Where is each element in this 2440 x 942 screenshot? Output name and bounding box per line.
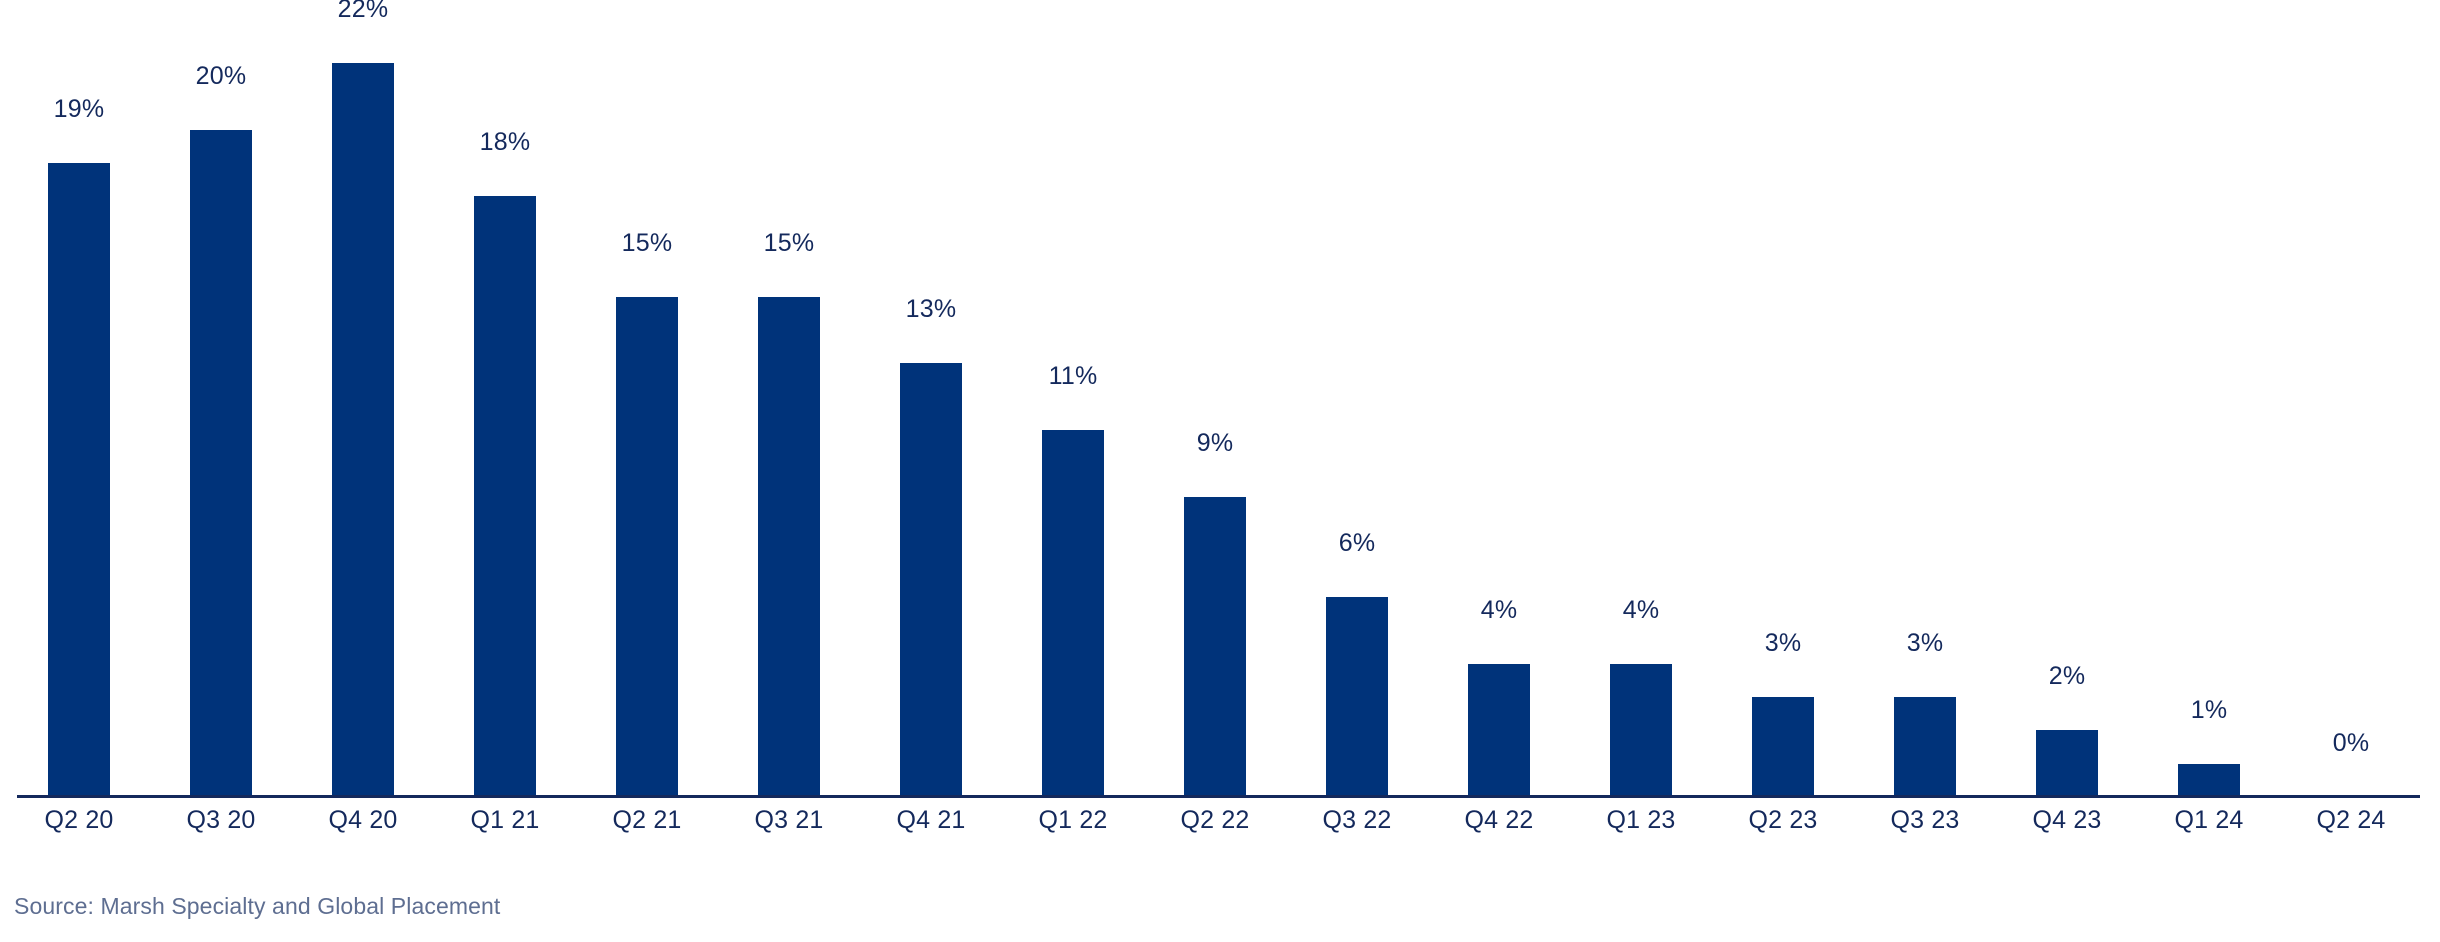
bar[interactable] [900, 363, 962, 797]
x-axis-tick-label: Q1 24 [2138, 806, 2280, 835]
bar[interactable] [2036, 730, 2098, 797]
x-axis-tick-label: Q2 20 [8, 806, 150, 835]
x-axis-tick-label: Q4 23 [1996, 806, 2138, 835]
bar-group[interactable]: 3% [1854, 0, 1996, 798]
bar-group[interactable]: 15% [718, 0, 860, 798]
bar[interactable] [758, 297, 820, 797]
bar-group[interactable]: 4% [1570, 0, 1712, 798]
bar-value-label: 4% [1428, 596, 1570, 625]
bar-value-label: 22% [292, 0, 434, 24]
bar[interactable] [1752, 697, 1814, 797]
bar[interactable] [1184, 497, 1246, 797]
x-axis-tick-label: Q3 21 [718, 806, 860, 835]
x-axis-tick-label: Q2 22 [1144, 806, 1286, 835]
x-axis-tick-label: Q3 20 [150, 806, 292, 835]
x-axis-tick-label: Q2 21 [576, 806, 718, 835]
bar[interactable] [2178, 764, 2240, 797]
bar-value-label: 20% [150, 62, 292, 91]
bar-group[interactable]: 15% [576, 0, 718, 798]
bar-value-label: 11% [1002, 362, 1144, 391]
bar-value-label: 3% [1854, 629, 1996, 658]
bar[interactable] [332, 63, 394, 797]
bar-group[interactable]: 20% [150, 0, 292, 798]
x-axis-line [17, 795, 2420, 798]
bar-value-label: 6% [1286, 529, 1428, 558]
bar-group[interactable]: 6% [1286, 0, 1428, 798]
bar-group[interactable]: 0% [2280, 0, 2422, 798]
bar-group[interactable]: 22% [292, 0, 434, 798]
bar-value-label: 13% [860, 295, 1002, 324]
bar-value-label: 0% [2280, 729, 2422, 758]
plot-area: 19%20%22%18%15%15%13%11%9%6%4%4%3%3%2%1%… [0, 0, 2440, 798]
bar[interactable] [1894, 697, 1956, 797]
bar[interactable] [48, 163, 110, 797]
bar[interactable] [474, 196, 536, 797]
bar-group[interactable]: 19% [8, 0, 150, 798]
bar-value-label: 15% [718, 229, 860, 258]
bar-value-label: 9% [1144, 429, 1286, 458]
bar-group[interactable]: 9% [1144, 0, 1286, 798]
bar-value-label: 18% [434, 128, 576, 157]
bar[interactable] [1610, 664, 1672, 797]
bar-group[interactable]: 1% [2138, 0, 2280, 798]
x-axis-tick-label: Q4 21 [860, 806, 1002, 835]
x-axis-tick-label: Q1 22 [1002, 806, 1144, 835]
bar-group[interactable]: 18% [434, 0, 576, 798]
bar-chart: 19%20%22%18%15%15%13%11%9%6%4%4%3%3%2%1%… [0, 0, 2440, 942]
x-axis-tick-label: Q4 20 [292, 806, 434, 835]
x-axis-tick-label: Q3 22 [1286, 806, 1428, 835]
bar-group[interactable]: 4% [1428, 0, 1570, 798]
x-axis-tick-label: Q1 21 [434, 806, 576, 835]
bar-group[interactable]: 11% [1002, 0, 1144, 798]
bar-value-label: 4% [1570, 596, 1712, 625]
bar-value-label: 3% [1712, 629, 1854, 658]
bar[interactable] [190, 130, 252, 797]
bar[interactable] [1042, 430, 1104, 797]
x-axis-tick-label: Q4 22 [1428, 806, 1570, 835]
bar-value-label: 2% [1996, 662, 2138, 691]
x-axis-tick-label: Q3 23 [1854, 806, 1996, 835]
bar-value-label: 1% [2138, 696, 2280, 725]
bar[interactable] [616, 297, 678, 797]
bar[interactable] [1326, 597, 1388, 797]
bar-group[interactable]: 13% [860, 0, 1002, 798]
bar-value-label: 15% [576, 229, 718, 258]
x-axis-category-labels: Q2 20Q3 20Q4 20Q1 21Q2 21Q3 21Q4 21Q1 22… [0, 806, 2440, 854]
bar[interactable] [1468, 664, 1530, 797]
bar-group[interactable]: 3% [1712, 0, 1854, 798]
bar-group[interactable]: 2% [1996, 0, 2138, 798]
x-axis-tick-label: Q2 24 [2280, 806, 2422, 835]
source-note: Source: Marsh Specialty and Global Place… [14, 893, 500, 920]
x-axis-tick-label: Q2 23 [1712, 806, 1854, 835]
x-axis-tick-label: Q1 23 [1570, 806, 1712, 835]
bar-value-label: 19% [8, 95, 150, 124]
